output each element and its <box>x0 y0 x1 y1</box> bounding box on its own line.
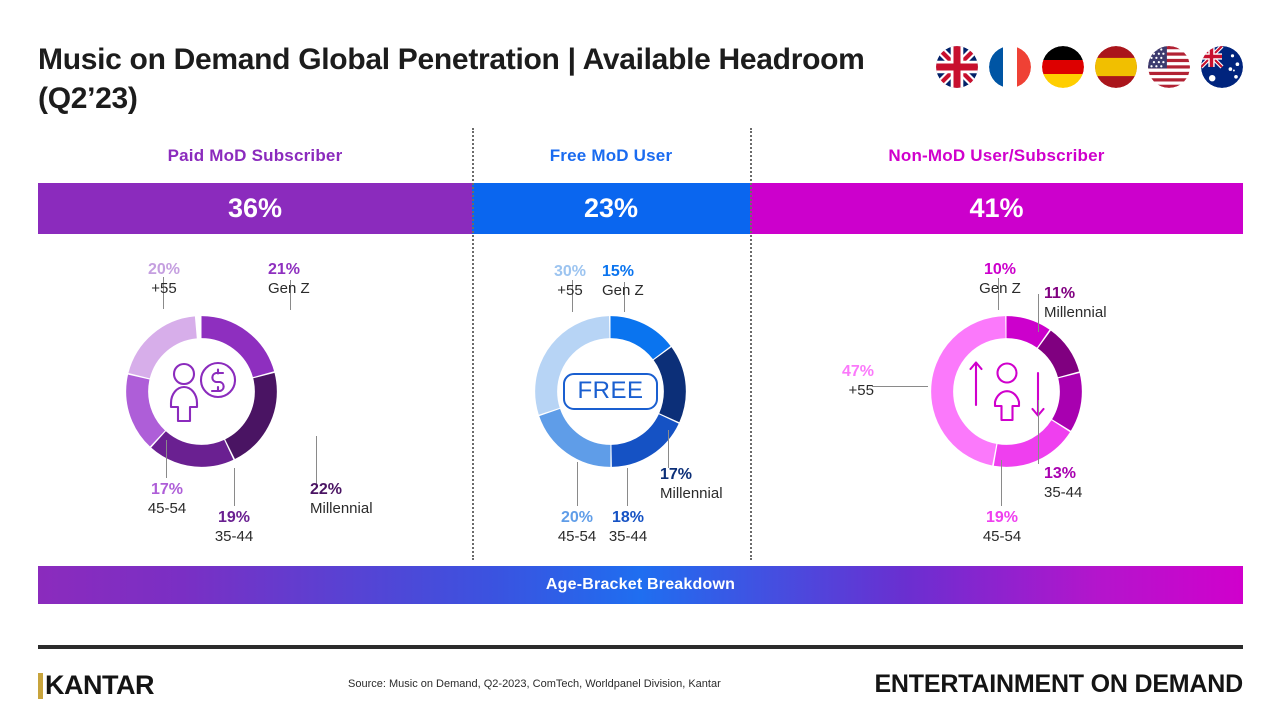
kantar-logo-mark <box>38 673 43 699</box>
page-title: Music on Demand Global Penetration | Ava… <box>38 40 968 118</box>
leader-line-plus55-nonmod <box>872 386 928 387</box>
leader-line-4554-paid <box>166 440 167 478</box>
callout-millennial-free: 17% Millennial <box>660 465 723 504</box>
callout-plus55-paid: 20% +55 <box>130 260 198 299</box>
callout-age: Gen Z <box>268 280 310 299</box>
callout-pct: 22% <box>310 480 373 500</box>
callout-genz-paid: 21% Gen Z <box>268 260 310 299</box>
flag-spain-icon <box>1095 46 1137 88</box>
callout-pct: 11% <box>1044 284 1107 304</box>
donut-panel-paid: 20% +55 21% Gen Z 17% 45-54 19% 35-44 22… <box>38 240 472 560</box>
source-note: Source: Music on Demand, Q2-2023, ComTec… <box>348 678 721 690</box>
leader-line-4554-free <box>577 462 578 506</box>
callout-genz-nonmod: 10% Gen Z <box>964 260 1036 299</box>
leader-line-millennial-paid <box>316 436 317 484</box>
kantar-logo: KANTAR <box>38 670 154 701</box>
callout-plus55-nonmod: 47% +55 <box>802 362 874 401</box>
infographic-page: Music on Demand Global Penetration | Ava… <box>0 0 1280 720</box>
leader-line-3544-paid <box>234 468 235 506</box>
center-icon-person-with-dollar <box>154 344 250 440</box>
entertainment-on-demand-logo: ENTERTAINMENT ON DEMAND <box>874 670 1243 699</box>
callout-age: 45-54 <box>962 528 1042 547</box>
callout-pct: 17% <box>126 480 208 500</box>
center-icon-person-with-arrows <box>959 344 1055 440</box>
donut-panel-free: FREE 30% +55 15% Gen Z 20% 45-54 <box>472 240 750 560</box>
callout-age: +55 <box>130 280 198 299</box>
flag-usa-icon <box>1148 46 1190 88</box>
flag-germany-icon <box>1042 46 1084 88</box>
flag-uk-icon <box>936 46 978 88</box>
callout-pct: 17% <box>660 465 723 485</box>
callout-age: Millennial <box>1044 304 1107 323</box>
donut-panel-nonmod: 47% +55 10% Gen Z 11% Millennial 13% 35-… <box>750 240 1243 560</box>
footer: KANTAR Source: Music on Demand, Q2-2023,… <box>38 660 1243 706</box>
callout-age: +55 <box>534 282 606 301</box>
callout-pct: 19% <box>962 508 1042 528</box>
callout-pct: 18% <box>590 508 666 528</box>
callout-millennial-nonmod: 11% Millennial <box>1044 284 1107 323</box>
callout-3544-free: 18% 35-44 <box>590 508 666 547</box>
callout-age: +55 <box>802 382 874 401</box>
callout-pct: 30% <box>534 262 606 282</box>
age-bracket-breakdown-bar: Age-Bracket Breakdown <box>38 566 1243 604</box>
callout-pct: 47% <box>802 362 874 382</box>
callout-age: Millennial <box>660 485 723 504</box>
center-icon-free-badge: FREE <box>563 344 659 440</box>
callout-pct: 15% <box>602 262 644 282</box>
callout-age: 35-44 <box>196 528 272 547</box>
callout-age: 35-44 <box>1044 484 1082 503</box>
callout-genz-free: 15% Gen Z <box>602 262 644 301</box>
callout-age: 35-44 <box>590 528 666 547</box>
leader-line-millennial-free <box>668 430 669 468</box>
leader-line-3544-nonmod <box>1038 400 1039 464</box>
donut-panels: 20% +55 21% Gen Z 17% 45-54 19% 35-44 22… <box>38 240 1243 560</box>
callout-pct: 19% <box>196 508 272 528</box>
callout-3544-paid: 19% 35-44 <box>196 508 272 547</box>
callout-4554-nonmod: 19% 45-54 <box>962 508 1042 547</box>
flag-row <box>936 46 1243 88</box>
free-badge-label: FREE <box>563 373 657 410</box>
callout-age: Gen Z <box>602 282 644 301</box>
kantar-logo-text: KANTAR <box>45 670 154 701</box>
callout-3544-nonmod: 13% 35-44 <box>1044 464 1082 503</box>
donut-chart-free: FREE <box>532 313 689 470</box>
footer-rule <box>38 645 1243 649</box>
callout-pct: 10% <box>964 260 1036 280</box>
donut-chart-paid <box>123 313 280 470</box>
donut-chart-nonmod <box>928 313 1085 470</box>
callout-pct: 20% <box>130 260 198 280</box>
callout-pct: 13% <box>1044 464 1082 484</box>
flag-australia-icon <box>1201 46 1243 88</box>
callout-millennial-paid: 22% Millennial <box>310 480 373 519</box>
leader-line-millennial-nonmod <box>1038 294 1039 332</box>
header: Music on Demand Global Penetration | Ava… <box>38 40 1243 118</box>
leader-line-4554-nonmod <box>1001 460 1002 506</box>
callout-age: Millennial <box>310 500 373 519</box>
flag-france-icon <box>989 46 1031 88</box>
callout-plus55-free: 30% +55 <box>534 262 606 301</box>
age-bracket-breakdown-label: Age-Bracket Breakdown <box>546 576 735 594</box>
callout-age: Gen Z <box>964 280 1036 299</box>
callout-pct: 21% <box>268 260 310 280</box>
leader-line-3544-free <box>627 468 628 506</box>
